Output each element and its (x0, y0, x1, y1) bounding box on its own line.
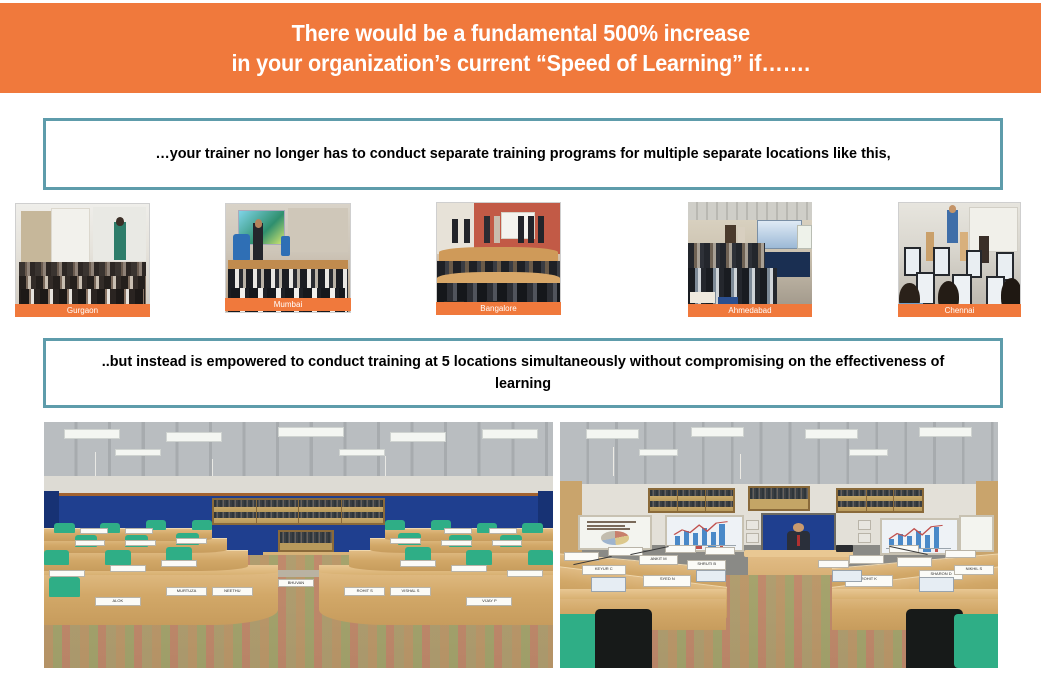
location-card-mumbai[interactable]: Mumbai (225, 203, 351, 313)
foreground-chair (595, 609, 652, 668)
name-placard (49, 570, 85, 578)
desk-tier-top (560, 589, 726, 599)
name-placard (110, 565, 146, 572)
monitor-screen (832, 570, 863, 582)
ceiling-light (278, 427, 344, 437)
wall-trim (44, 493, 553, 496)
virtual-classroom-render-left: ALOK MURTUZA NEETHU BHUVAN VIJAY P VISHA… (44, 422, 553, 668)
location-thumbnail-strip: Gurgaon Mumbai (0, 200, 1041, 320)
chair (385, 520, 405, 530)
desk-phone (836, 545, 854, 552)
pie-diagram (601, 531, 629, 544)
video-wall-divider (866, 490, 867, 511)
video-wall-left (648, 488, 736, 513)
ceiling-light (339, 449, 385, 456)
location-caption-gurgaon: Gurgaon (15, 304, 150, 317)
header-title-line1: There would be a fundamental 500% increa… (291, 18, 749, 48)
name-placard: KEYUR C (582, 565, 626, 576)
name-placard (897, 557, 932, 566)
name-placard (665, 545, 696, 553)
trainer-tie (797, 535, 800, 546)
video-wall-divider (256, 500, 257, 523)
callout-box-bottom: ..but instead is empowered to conduct tr… (43, 338, 1003, 408)
ceiling-light (64, 429, 120, 439)
name-placard: ALOK (95, 597, 141, 607)
camera-pod (746, 520, 759, 530)
name-placard (441, 540, 472, 546)
name-placard: ROHIT S (344, 587, 385, 596)
whiteboard-right (959, 515, 994, 552)
remote-participants (838, 490, 922, 496)
chart-trend-line (888, 524, 945, 544)
ceiling-light (166, 432, 222, 442)
ceiling-light (390, 432, 446, 442)
location-card-chennai[interactable]: Chennai (898, 202, 1021, 315)
name-placard (80, 528, 108, 534)
callout-top-text: …your trainer no longer has to conduct s… (155, 143, 890, 165)
remote-participants (838, 501, 922, 507)
handwriting (587, 528, 631, 530)
virtual-classroom-render-right: SYED N KEYUR C ANKIT M SHRUTI B ROHIT K … (560, 422, 998, 668)
video-wall-divider (677, 490, 678, 511)
name-placard (161, 560, 197, 567)
ceiling-light (586, 429, 639, 439)
location-card-ahmedabad[interactable]: Ahmedabad (688, 202, 812, 315)
callout-box-top: …your trainer no longer has to conduct s… (43, 118, 1003, 190)
header-title-line2: in your organization’s current “Speed of… (231, 48, 809, 78)
name-placard (390, 538, 421, 544)
location-photo-gurgaon (15, 203, 150, 317)
name-placard (75, 540, 106, 546)
name-placard: SYED N (643, 575, 691, 587)
camera-pod (858, 533, 871, 543)
name-placard (176, 538, 207, 544)
name-placard (489, 528, 517, 534)
remote-participants (650, 501, 734, 507)
name-placard: NIKHIL S (954, 565, 993, 575)
video-wall-right (836, 488, 924, 513)
name-placard (818, 560, 849, 568)
chair (192, 520, 212, 530)
ceiling-light (482, 429, 538, 439)
video-wall-row (650, 501, 734, 511)
name-placard (849, 555, 884, 564)
ceiling-light (849, 449, 888, 456)
location-card-gurgaon[interactable]: Gurgaon (15, 203, 150, 317)
desk-tier (319, 570, 553, 625)
hanging-mic (740, 454, 741, 479)
chair (105, 550, 130, 565)
ceiling-light (919, 427, 972, 437)
camera-pod (858, 520, 871, 530)
chair (44, 550, 69, 565)
monitor-screen (696, 570, 727, 582)
chair (466, 550, 491, 565)
video-wall-row (650, 490, 734, 500)
hanging-mic (613, 447, 614, 477)
name-placard (400, 560, 436, 567)
video-wall-center-monitor (278, 530, 334, 552)
name-placard: NEETHU (212, 587, 253, 596)
chair (522, 523, 542, 533)
chart-trend-line (673, 521, 730, 541)
video-wall-center (748, 486, 809, 511)
location-photo-bangalore (436, 202, 561, 315)
name-placard: BHUVAN (278, 579, 314, 587)
location-caption-ahmedabad: Ahmedabad (688, 304, 812, 317)
whiteboard-left (578, 515, 652, 549)
camera-pod (746, 533, 759, 543)
ceiling-light (115, 449, 161, 456)
desk-tier-top (832, 589, 998, 599)
video-wall-divider (705, 490, 706, 511)
ceiling-light (691, 427, 744, 437)
remote-participants (280, 532, 332, 543)
handwriting (587, 521, 636, 523)
chair (54, 523, 74, 533)
remote-desk (280, 543, 332, 550)
location-caption-bangalore: Bangalore (436, 302, 561, 315)
name-placard (125, 528, 153, 534)
name-placard: VISHAL S (390, 587, 431, 596)
location-photo-chennai (898, 202, 1021, 315)
video-wall-divider (893, 490, 894, 511)
video-wall-divider (298, 500, 299, 523)
video-wall-row (838, 501, 922, 511)
remote-participants (650, 490, 734, 496)
chair (49, 577, 80, 597)
name-placard (705, 547, 736, 555)
video-wall-divider (341, 500, 342, 523)
ceiling-light (639, 449, 678, 456)
name-placard (444, 528, 472, 534)
name-placard: SHRUTI B (687, 560, 726, 570)
name-placard: VIJAY P (466, 597, 512, 607)
location-photo-ahmedabad (688, 202, 812, 315)
header-banner: There would be a fundamental 500% increa… (0, 3, 1041, 93)
location-card-bangalore[interactable]: Bangalore (436, 202, 561, 315)
name-placard (451, 565, 487, 572)
foreground-chair (954, 614, 998, 668)
location-caption-chennai: Chennai (898, 304, 1021, 317)
callout-bottom-text: ..but instead is empowered to conduct tr… (96, 351, 950, 395)
monitor-screen (919, 577, 954, 592)
trainer-backdrop-screen (761, 513, 835, 555)
name-placard (945, 550, 976, 558)
remote-participants (750, 488, 807, 499)
video-wall-main (212, 498, 385, 525)
name-placard (125, 540, 156, 546)
name-placard: MURTUZA (166, 587, 207, 596)
name-placard (507, 570, 543, 578)
name-placard (492, 540, 523, 546)
ceiling-light (805, 429, 858, 439)
location-caption-mumbai: Mumbai (225, 298, 351, 311)
name-placard: ANKIT M (639, 555, 678, 565)
location-photo-mumbai (225, 203, 351, 313)
chair (528, 550, 553, 565)
remote-desk (750, 499, 807, 508)
monitor-screen (591, 577, 626, 592)
video-wall-row (838, 490, 922, 500)
handwriting (587, 525, 626, 527)
